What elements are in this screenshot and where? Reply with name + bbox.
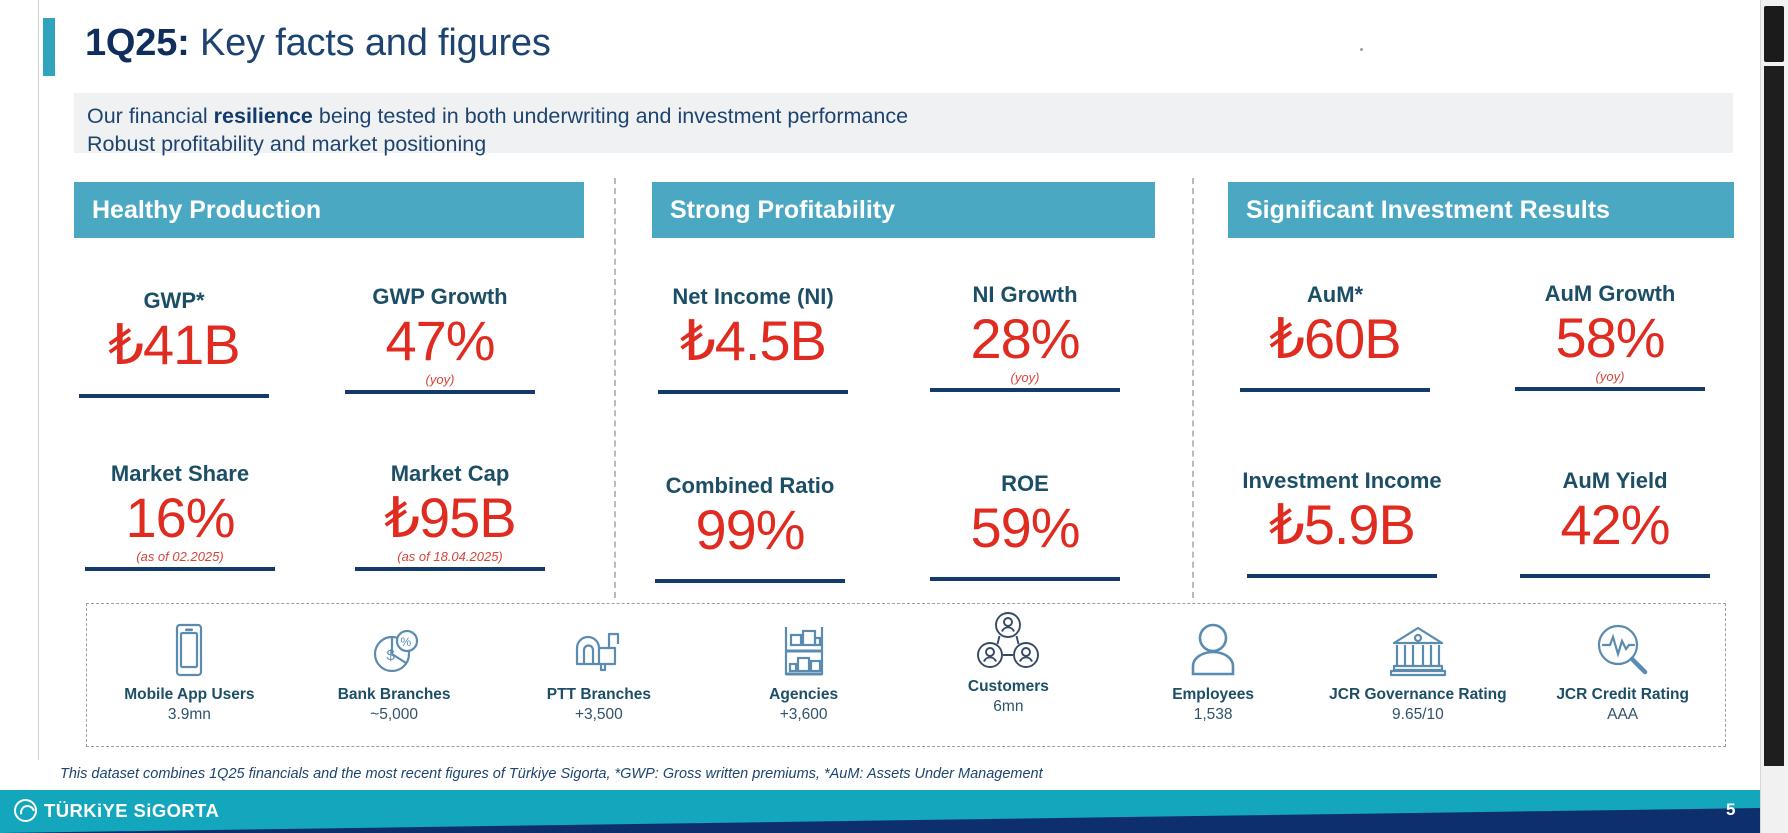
stat-label: Bank Branches	[338, 686, 451, 704]
stat-value: ~5,000	[370, 706, 418, 724]
pie-chart-percent-icon: $ %	[368, 616, 420, 678]
viewer-scrollbar[interactable]	[1760, 0, 1788, 833]
stats-icon-row: Mobile App Users 3.9mn $ % Bank Branches…	[87, 604, 1725, 746]
kpi-value: ₺95B	[340, 487, 560, 549]
kpi-value: 28%	[915, 308, 1135, 370]
kpi-underline	[1520, 574, 1710, 578]
kpi-underline	[655, 579, 845, 583]
subtitle-emphasis: resilience	[214, 104, 313, 128]
subtitle-line-1: Our financial resilience being tested in…	[87, 102, 1733, 130]
page-title-prefix: 1Q25:	[85, 22, 190, 64]
kpi-value: ₺41B	[64, 314, 284, 376]
stat-value: 3.9mn	[168, 706, 211, 724]
kpi-sublabel: (yoy)	[1500, 369, 1720, 384]
kpi-underline	[658, 390, 848, 394]
stat-customers: Customers 6mn	[906, 604, 1111, 746]
kpi-sublabel: (as of 02.2025)	[70, 549, 290, 564]
kpi-underline	[930, 577, 1120, 581]
brand-logo: TÜRKiYE SiGORTA	[14, 799, 219, 822]
page-number: 5	[1726, 800, 1735, 820]
shelf-boxes-icon	[779, 616, 829, 678]
kpi-aum-growth: AuM Growth 58% (yoy)	[1500, 281, 1720, 391]
kpi-gwp: GWP* ₺41B	[64, 288, 284, 398]
stat-value: 9.65/10	[1392, 706, 1444, 724]
kpi-sublabel	[1232, 556, 1452, 571]
kpi-sublabel: (yoy)	[330, 372, 550, 387]
kpi-label: Investment Income	[1232, 468, 1452, 494]
kpi-value: 58%	[1500, 307, 1720, 369]
kpi-aum-yield: AuM Yield 42%	[1505, 468, 1725, 578]
kpi-underline	[930, 388, 1120, 392]
page-title-rest: Key facts and figures	[190, 22, 551, 64]
stat-value: +3,500	[575, 706, 623, 724]
mobile-phone-icon	[170, 616, 208, 678]
kpi-value: 47%	[330, 310, 550, 372]
kpi-sublabel	[640, 561, 860, 576]
stat-label: JCR Credit Rating	[1556, 686, 1689, 704]
turkiye-sigorta-logo-icon	[14, 799, 37, 822]
page-title: 1Q25: Key facts and figures	[85, 22, 551, 65]
kpi-label: AuM*	[1225, 282, 1445, 308]
stat-label: Customers	[968, 678, 1049, 696]
kpi-aum: AuM* ₺60B	[1225, 282, 1445, 392]
kpi-sublabel	[1505, 556, 1725, 571]
kpi-underline	[1240, 388, 1430, 392]
stat-bank-branches: $ % Bank Branches ~5,000	[292, 604, 497, 746]
subtitle-line-1-c: being tested in both underwriting and in…	[313, 104, 908, 128]
brand-bar-wedge	[0, 790, 1760, 833]
title-accent-bar	[43, 18, 55, 76]
kpi-sublabel	[643, 372, 863, 387]
bank-building-icon	[1389, 616, 1447, 678]
svg-text:%: %	[401, 635, 412, 649]
kpi-label: AuM Yield	[1505, 468, 1725, 494]
column-header-healthy-production: Healthy Production	[74, 182, 584, 238]
slide: 1Q25: Key facts and figures Our financia…	[0, 0, 1788, 833]
kpi-label: Net Income (NI)	[643, 284, 863, 310]
column-header-significant-investment-results: Significant Investment Results	[1228, 182, 1734, 238]
kpi-label: ROE	[915, 471, 1135, 497]
kpi-label: AuM Growth	[1500, 281, 1720, 307]
kpi-investment-income: Investment Income ₺5.9B	[1232, 468, 1452, 578]
person-icon	[1187, 616, 1239, 678]
column-separator-2	[1192, 178, 1194, 598]
stat-label: PTT Branches	[547, 686, 651, 704]
svg-text:$: $	[387, 647, 396, 664]
subtitle-line-1-a: Our financial	[87, 104, 214, 128]
kpi-label: Market Share	[70, 461, 290, 487]
kpi-underline	[355, 567, 545, 571]
stat-value: +3,600	[780, 706, 828, 724]
stat-agencies: Agencies +3,600	[701, 604, 906, 746]
kpi-value: ₺60B	[1225, 308, 1445, 370]
stats-icon-strip: Mobile App Users 3.9mn $ % Bank Branches…	[86, 603, 1726, 747]
kpi-ni-growth: NI Growth 28% (yoy)	[915, 282, 1135, 392]
left-margin-rule	[38, 0, 39, 760]
magnifier-pulse-icon	[1595, 616, 1651, 678]
mailbox-icon	[571, 616, 627, 678]
kpi-gwp-growth: GWP Growth 47% (yoy)	[330, 284, 550, 394]
kpi-label: Market Cap	[340, 461, 560, 487]
stat-label: Mobile App Users	[124, 686, 254, 704]
kpi-value: 42%	[1505, 494, 1725, 556]
kpi-underline	[345, 390, 535, 394]
kpi-value: 99%	[640, 499, 860, 561]
scrollbar-track[interactable]	[1764, 66, 1784, 766]
scrollbar-thumb[interactable]	[1764, 6, 1784, 62]
kpi-label: GWP*	[64, 288, 284, 314]
kpi-underline	[1515, 387, 1705, 391]
kpi-label: Combined Ratio	[640, 473, 860, 499]
kpi-label: GWP Growth	[330, 284, 550, 310]
kpi-value: ₺4.5B	[643, 310, 863, 372]
subtitle-line-2: Robust profitability and market position…	[87, 130, 1733, 158]
kpi-sublabel	[64, 376, 284, 391]
kpi-combined-ratio: Combined Ratio 99%	[640, 473, 860, 583]
column-separator-1	[614, 178, 616, 598]
kpi-market-share: Market Share 16% (as of 02.2025)	[70, 461, 290, 571]
stat-value: 1,538	[1194, 706, 1233, 724]
kpi-underline	[85, 567, 275, 571]
kpi-value: ₺5.9B	[1232, 494, 1452, 556]
kpi-market-cap: Market Cap ₺95B (as of 18.04.2025)	[340, 461, 560, 571]
column-header-strong-profitability: Strong Profitability	[652, 182, 1155, 238]
kpi-net-income: Net Income (NI) ₺4.5B	[643, 284, 863, 394]
people-network-icon	[977, 608, 1039, 670]
stat-label: Employees	[1172, 686, 1254, 704]
stat-mobile-app-users: Mobile App Users 3.9mn	[87, 604, 292, 746]
stat-value: AAA	[1607, 706, 1638, 724]
stat-jcr-credit-rating: JCR Credit Rating AAA	[1520, 604, 1725, 746]
stat-label: JCR Governance Rating	[1329, 686, 1506, 704]
brand-name: TÜRKiYE SiGORTA	[44, 800, 219, 822]
stat-jcr-governance-rating: JCR Governance Rating 9.65/10	[1316, 604, 1521, 746]
subtitle-band: Our financial resilience being tested in…	[74, 93, 1733, 153]
kpi-roe: ROE 59%	[915, 471, 1135, 581]
stat-label: Agencies	[769, 686, 838, 704]
kpi-sublabel	[915, 559, 1135, 574]
kpi-sublabel	[1225, 370, 1445, 385]
kpi-value: 59%	[915, 497, 1135, 559]
kpi-label: NI Growth	[915, 282, 1135, 308]
stat-employees: Employees 1,538	[1111, 604, 1316, 746]
kpi-value: 16%	[70, 487, 290, 549]
stat-ptt-branches: PTT Branches +3,500	[497, 604, 702, 746]
kpi-sublabel: (yoy)	[915, 370, 1135, 385]
footnote: This dataset combines 1Q25 financials an…	[60, 766, 1043, 782]
stat-value: 6mn	[993, 698, 1023, 716]
kpi-underline	[1247, 574, 1437, 578]
kpi-underline	[79, 394, 269, 398]
brand-bottom-bar	[0, 790, 1760, 833]
kpi-sublabel: (as of 18.04.2025)	[340, 549, 560, 564]
title-dot-marker	[1360, 48, 1363, 51]
